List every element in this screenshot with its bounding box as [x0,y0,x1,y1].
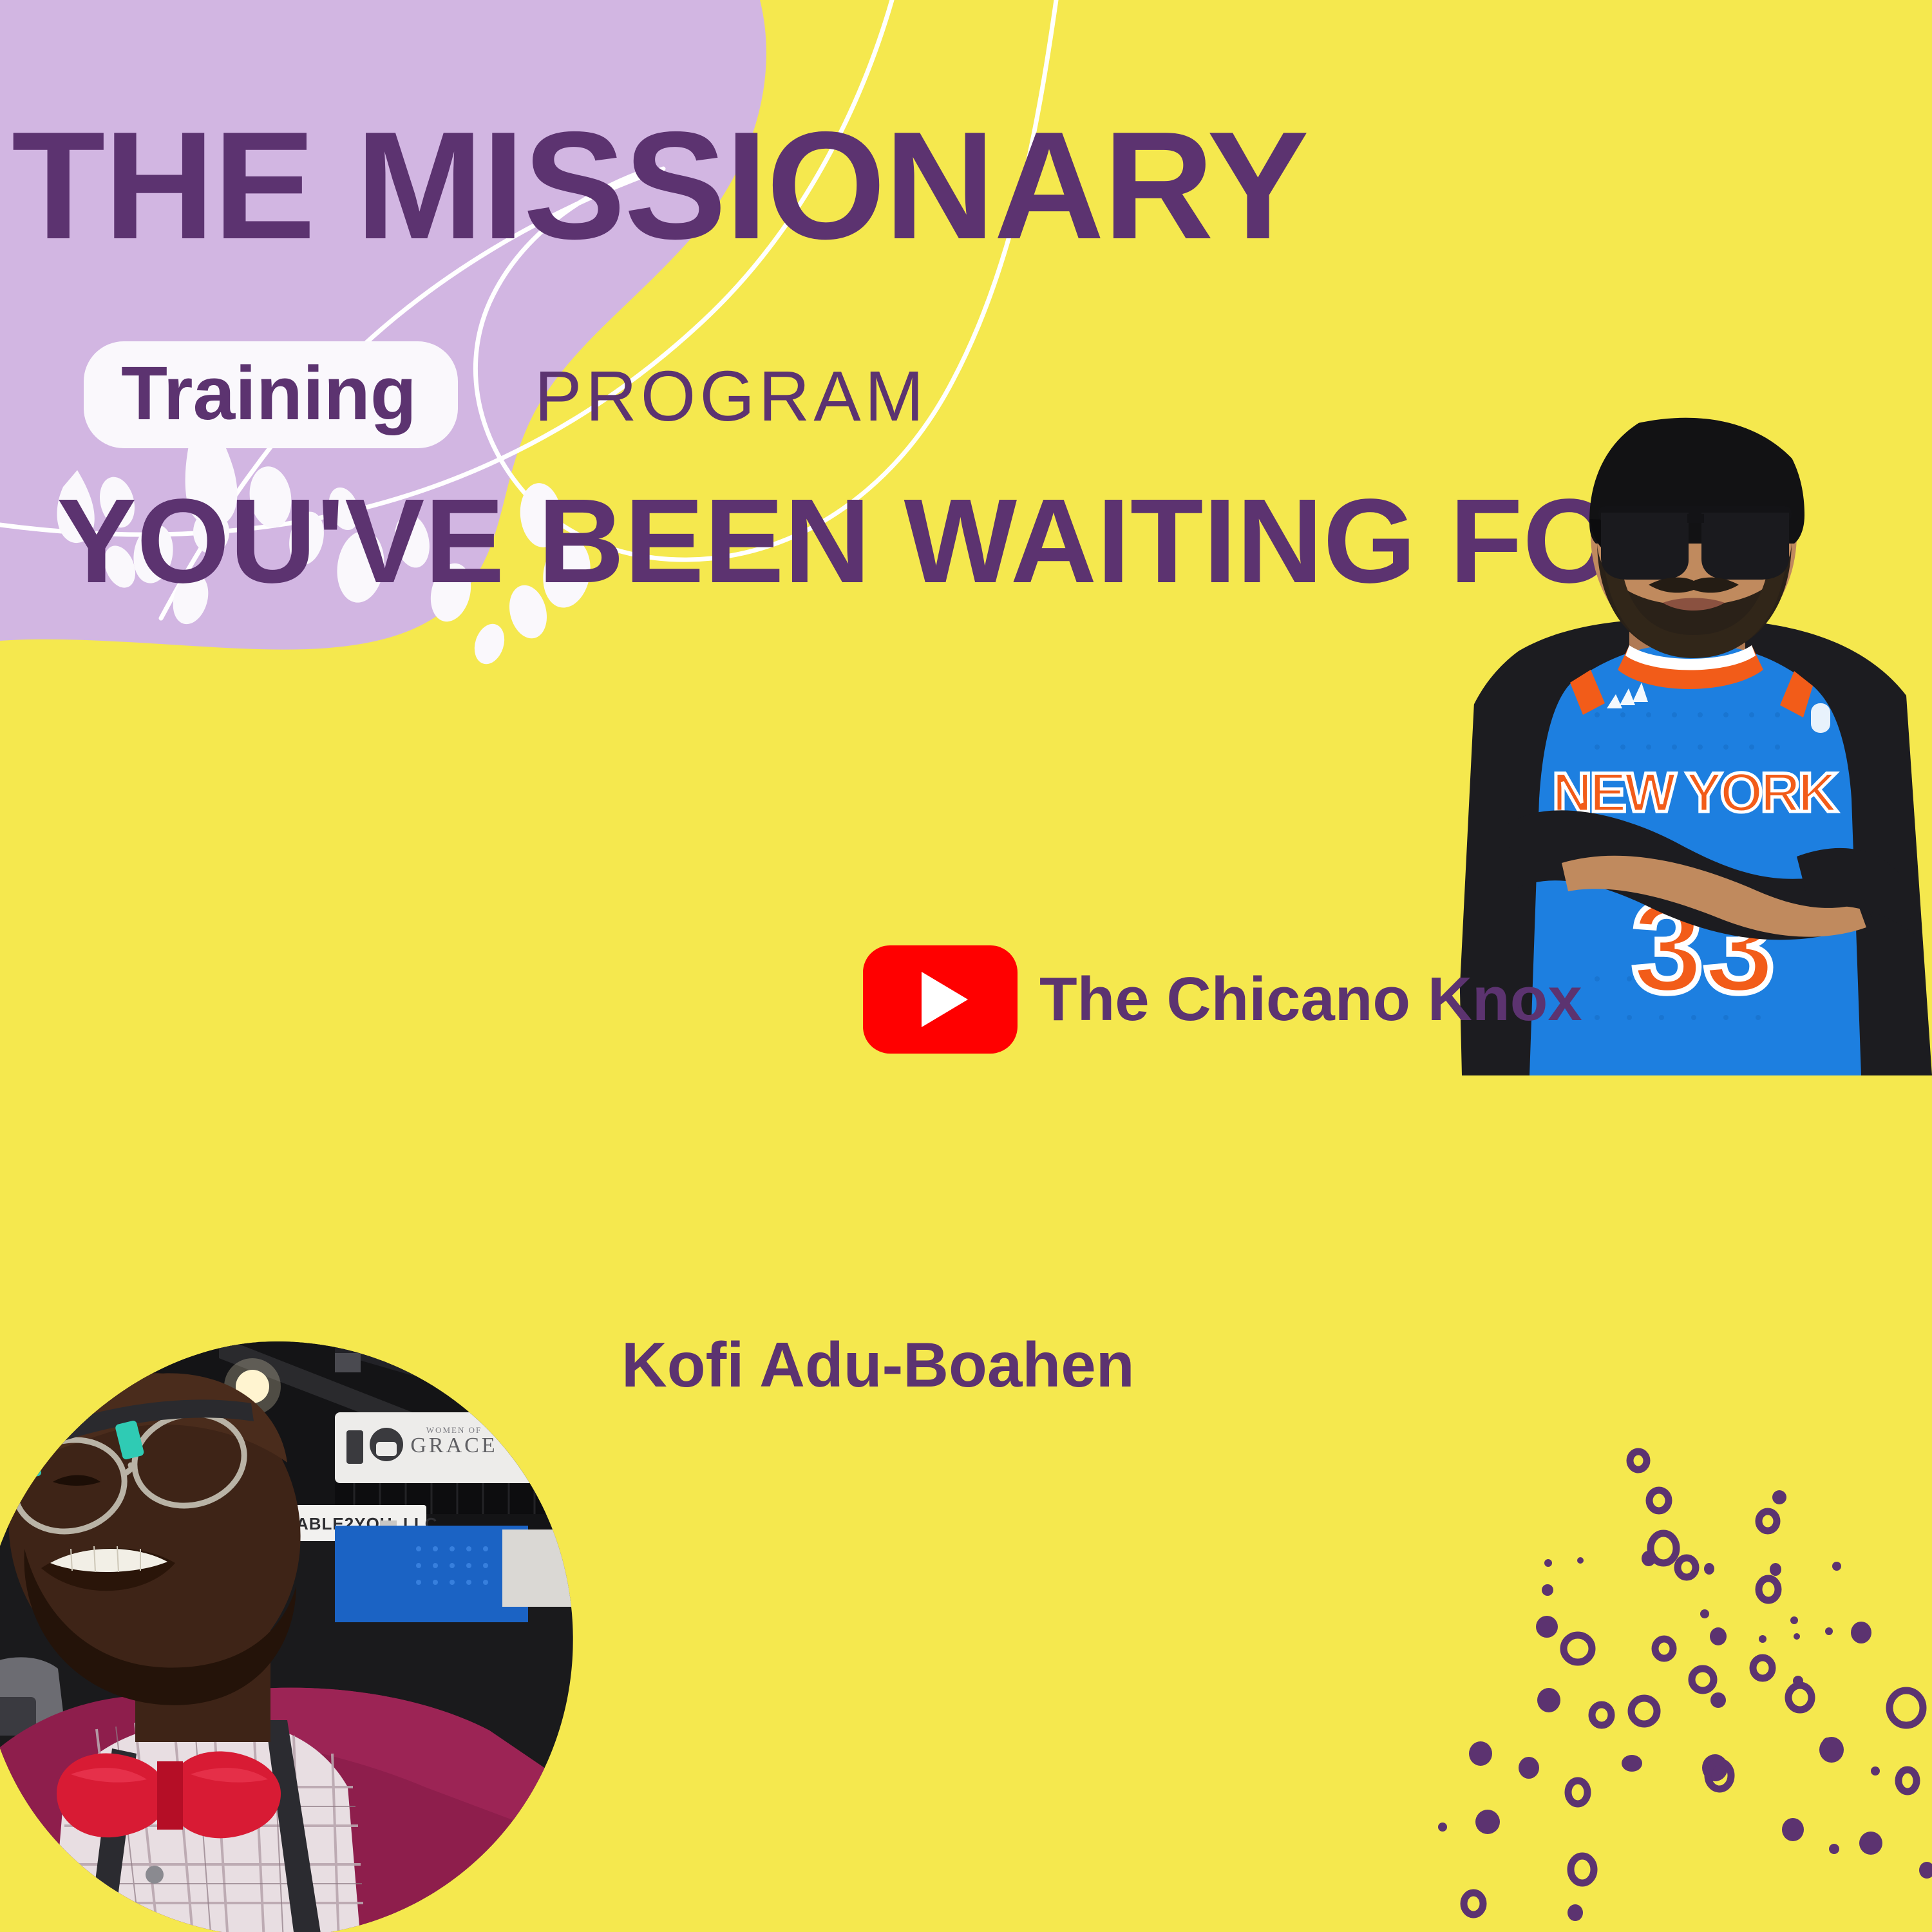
poster-canvas: THE MISSIONARY Training PROGRAM YOU'VE B… [0,0,1932,1932]
purple-confetti-dots [0,0,1932,1932]
